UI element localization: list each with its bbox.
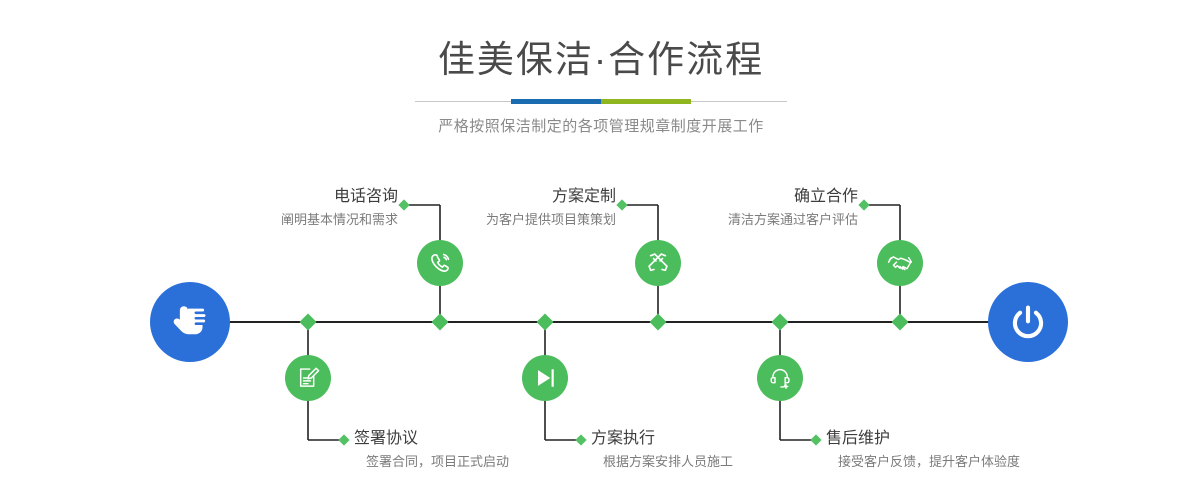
step-title-4: 方案执行 — [585, 428, 733, 450]
power-icon — [1006, 300, 1050, 344]
step-node-3[interactable] — [635, 240, 681, 286]
timeline-connectors — [0, 0, 1202, 502]
step-title-5: 确立合作 — [700, 186, 858, 208]
step-node-2[interactable] — [285, 355, 331, 401]
label-marker-step-1 — [398, 199, 409, 210]
step-desc-6: 接受客户反馈，提升客户体验度 — [820, 452, 1020, 471]
step-node-4[interactable] — [522, 355, 568, 401]
step-label-6: 售后维护 接受客户反馈，提升客户体验度 — [820, 428, 1020, 471]
step-node-6[interactable] — [757, 355, 803, 401]
pencil-ruler-icon — [645, 250, 671, 276]
diamond-marker-step-4 — [537, 314, 554, 331]
step-desc-5: 清洁方案通过客户评估 — [700, 210, 858, 229]
process-timeline: 电话咨询 阐明基本情况和需求 方案定制 为客户提供项目策策划 确立合作 清洁方案… — [0, 0, 1202, 502]
play-execute-icon — [531, 364, 559, 392]
step-title-6: 售后维护 — [820, 428, 1020, 450]
diamond-marker-step-1 — [432, 314, 449, 331]
label-marker-step-3 — [616, 199, 627, 210]
step-title-1: 电话咨询 — [240, 186, 398, 208]
timeline-end-node[interactable] — [988, 282, 1068, 362]
phone-call-icon — [427, 250, 453, 276]
step-label-3: 方案定制 为客户提供项目策策划 — [458, 186, 616, 229]
step-desc-4: 根据方案安排人员施工 — [585, 452, 733, 471]
diamond-marker-step-2 — [300, 314, 317, 331]
step-desc-1: 阐明基本情况和需求 — [240, 210, 398, 229]
step-label-1: 电话咨询 阐明基本情况和需求 — [240, 186, 398, 229]
flow-chart-page: 佳美保洁·合作流程 严格按照保洁制定的各项管理规章制度开展工作 — [0, 0, 1202, 502]
step-desc-3: 为客户提供项目策策划 — [458, 210, 616, 229]
step-desc-2: 签署合同，项目正式启动 — [348, 452, 509, 471]
diamond-marker-step-6 — [772, 314, 789, 331]
timeline-start-node[interactable] — [150, 282, 230, 362]
customer-service-icon — [767, 365, 794, 392]
label-marker-step-5 — [858, 199, 869, 210]
step-title-2: 签署协议 — [348, 428, 509, 450]
step-label-5: 确立合作 清洁方案通过客户评估 — [700, 186, 858, 229]
pointing-hand-icon — [167, 299, 213, 345]
step-label-4: 方案执行 根据方案安排人员施工 — [585, 428, 733, 471]
step-node-1[interactable] — [417, 240, 463, 286]
handshake-icon — [886, 249, 914, 277]
step-node-5[interactable] — [877, 240, 923, 286]
step-title-3: 方案定制 — [458, 186, 616, 208]
step-label-2: 签署协议 签署合同，项目正式启动 — [348, 428, 509, 471]
document-edit-icon — [295, 365, 321, 391]
diamond-marker-step-5 — [892, 314, 909, 331]
diamond-marker-step-3 — [650, 314, 667, 331]
